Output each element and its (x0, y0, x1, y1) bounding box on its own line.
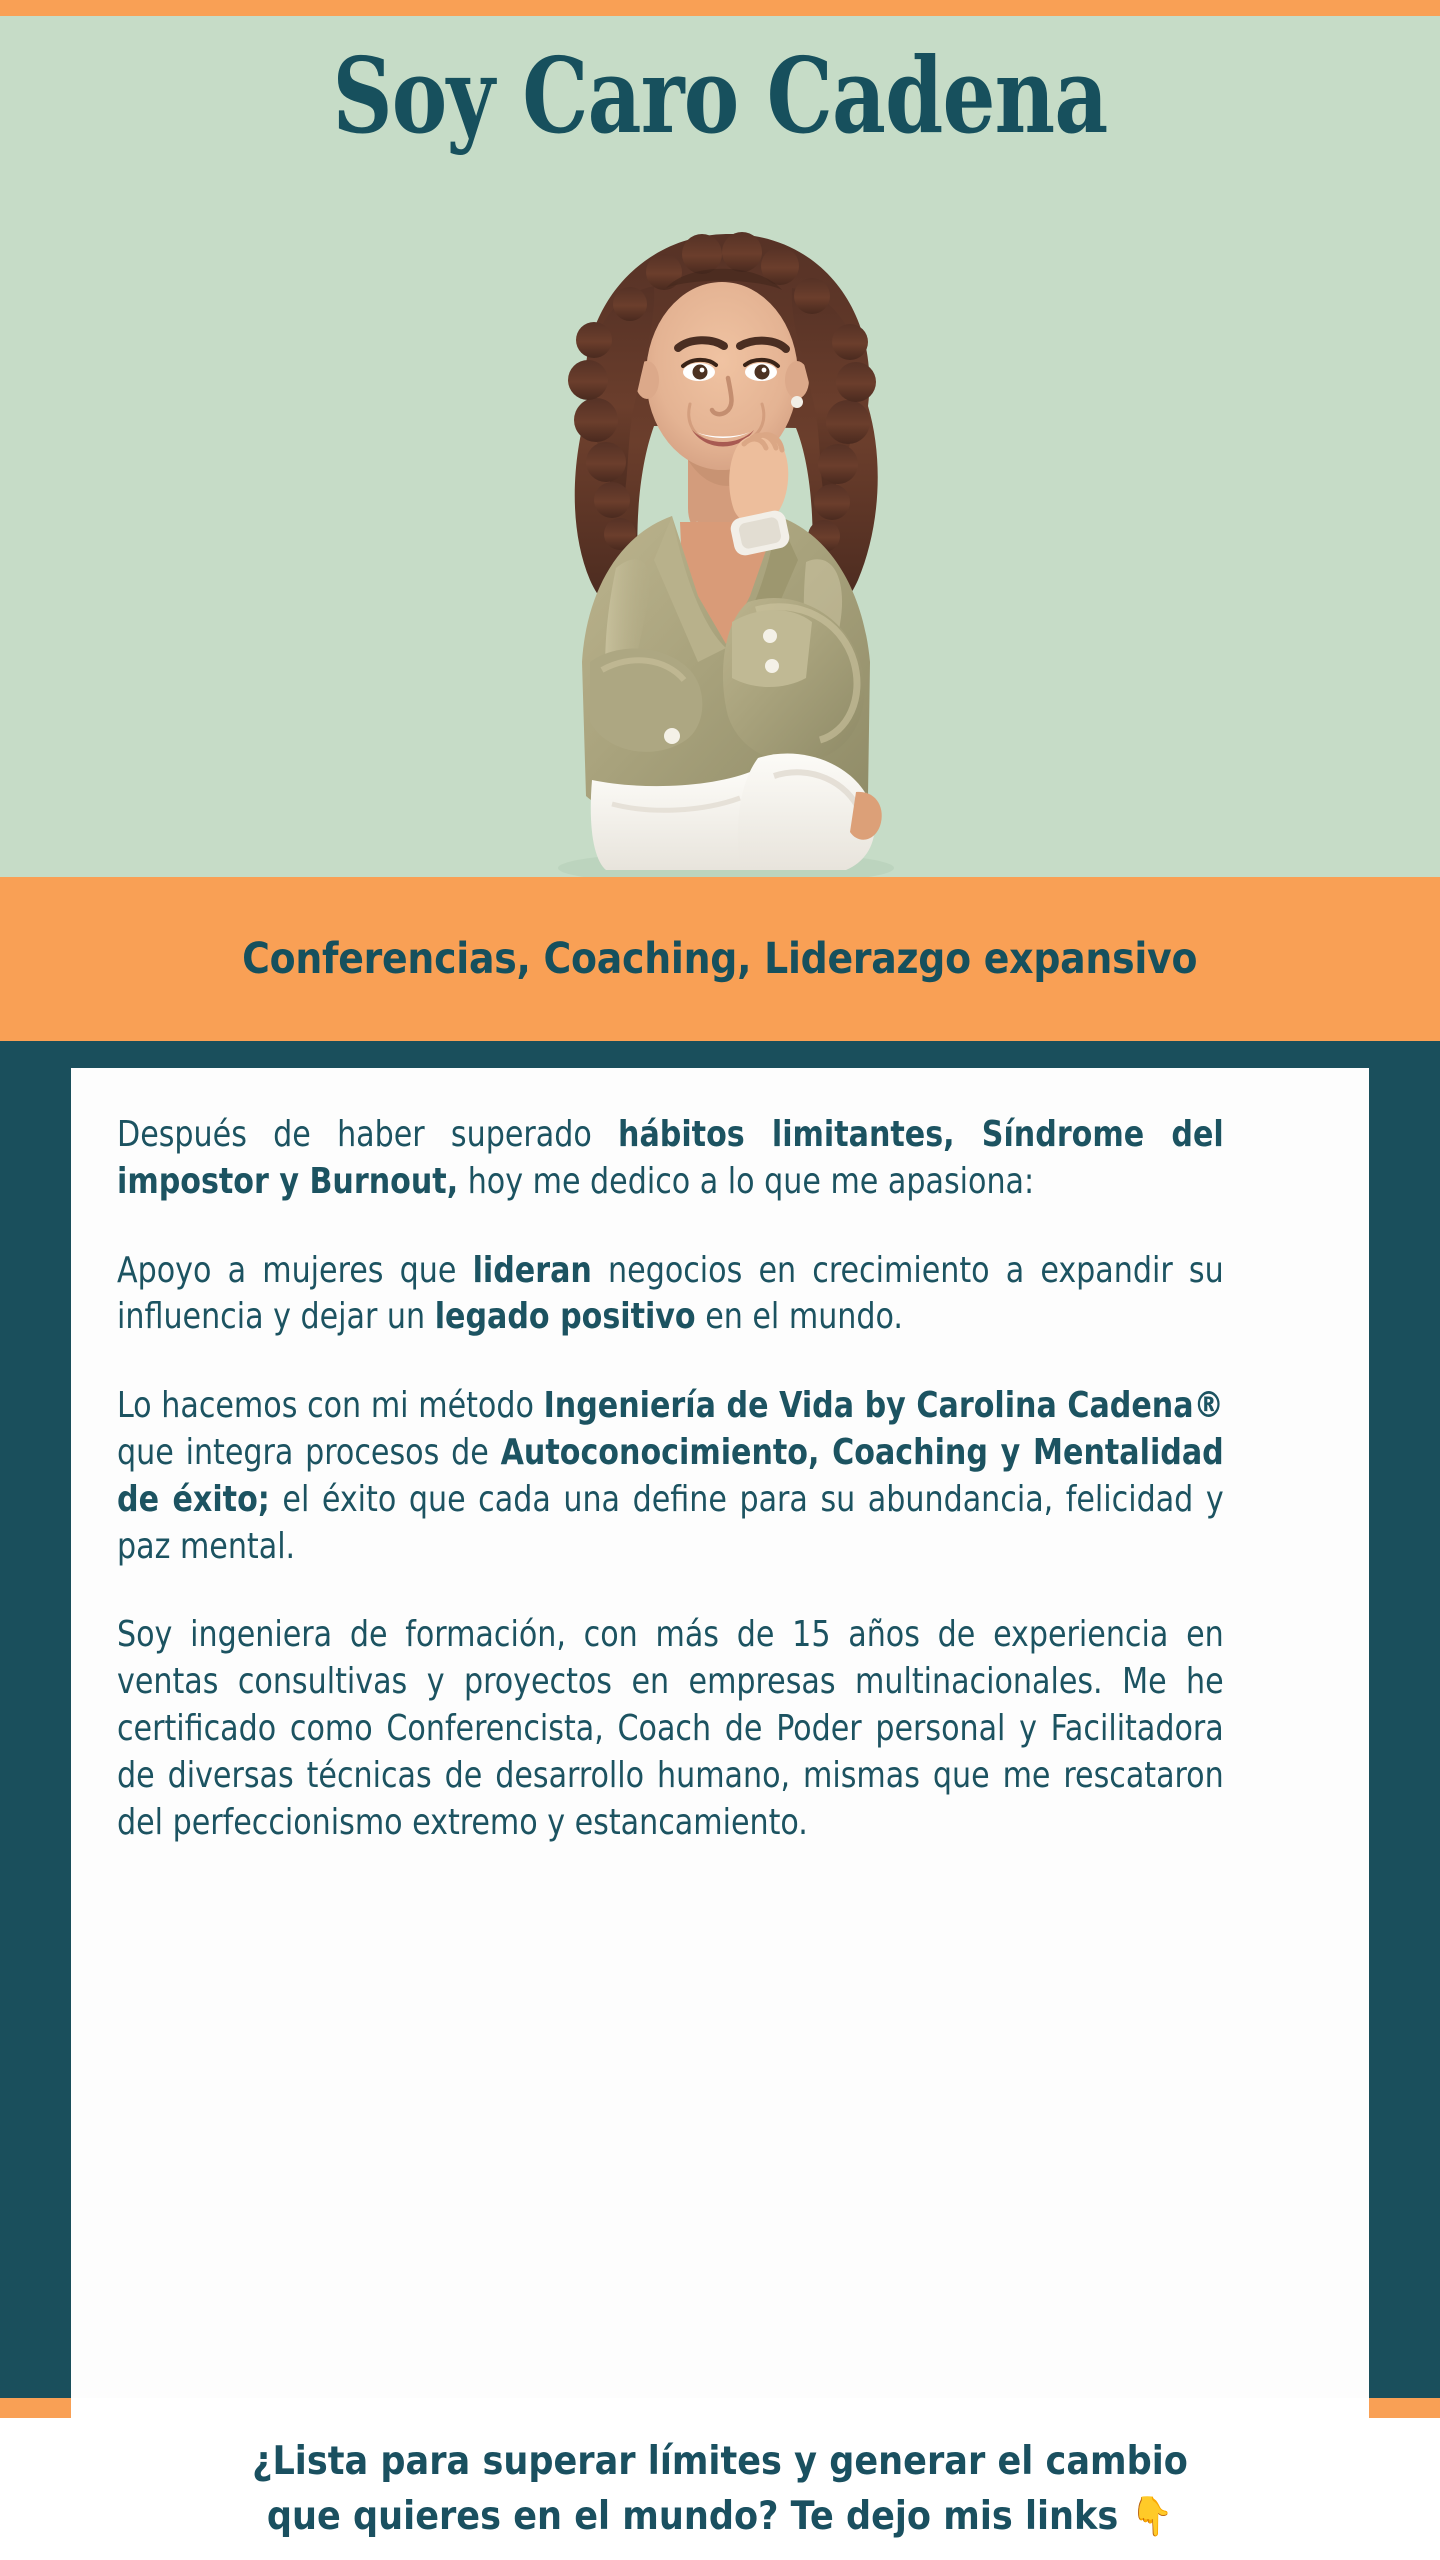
hero-section: Soy Caro Cadena (0, 16, 1440, 877)
cta-block: ¿Lista para superar límites y generar el… (0, 2434, 1440, 2545)
bio-paragraph: Después de haber superado hábitos limita… (117, 1112, 1224, 1206)
bio-card: Después de haber superado hábitos limita… (71, 1068, 1369, 2398)
bio-text: Después de haber superado hábitos limita… (117, 1112, 1224, 1846)
bio-run: Apoyo a mujeres que (117, 1250, 473, 1291)
bio-run: en el mundo. (696, 1296, 903, 1337)
cta-line-2-text: que quieres en el mundo? Te dejo mis lin… (267, 2494, 1118, 2539)
bio-paragraph: Soy ingeniera de formación, con más de 1… (117, 1612, 1224, 1846)
bio-emphasis: Ingeniería de Vida by Carolina Cadena® (544, 1385, 1224, 1426)
bio-paragraph: Lo hacemos con mi método Ingeniería de V… (117, 1383, 1224, 1570)
page-title: Soy Caro Cadena (144, 40, 1296, 152)
bio-run: hoy me dedico a lo que me apasiona: (458, 1161, 1034, 1202)
bio-run: que integra procesos de (117, 1432, 501, 1473)
bio-run: Después de haber superado (117, 1114, 618, 1155)
bio-emphasis: lideran (473, 1250, 592, 1291)
cta-line-1: ¿Lista para superar límites y generar el… (72, 2434, 1368, 2489)
portrait-photo (440, 192, 1000, 877)
bio-emphasis: legado positivo (435, 1296, 696, 1337)
top-orange-rule (0, 0, 1440, 16)
bio-run: Lo hacemos con mi método (117, 1385, 544, 1426)
bio-run: Soy ingeniera de formación, con más de 1… (117, 1614, 1224, 1842)
orange-accent-right (1369, 2398, 1440, 2418)
bio-paragraph: Apoyo a mujeres que lideran negocios en … (117, 1248, 1224, 1342)
cta-line-2: que quieres en el mundo? Te dejo mis lin… (72, 2489, 1368, 2544)
subtitle-band: Conferencias, Coaching, Liderazgo expans… (0, 877, 1440, 1041)
pointing-down-hand-icon: 👇 (1130, 2494, 1173, 2538)
profile-bio-card: Soy Caro Cadena (0, 0, 1440, 2560)
bio-run: el éxito que cada una define para su abu… (117, 1479, 1224, 1567)
subtitle-text: Conferencias, Coaching, Liderazgo expans… (242, 934, 1197, 984)
orange-accent-left (0, 2398, 71, 2418)
